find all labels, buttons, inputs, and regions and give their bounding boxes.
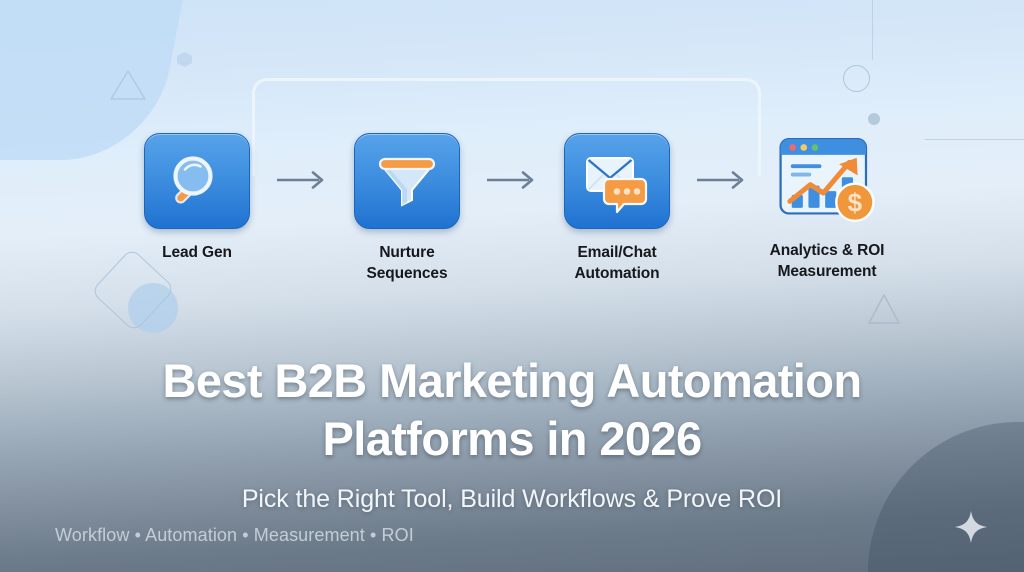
page-title: Best B2B Marketing Automation Platforms … <box>0 352 1024 468</box>
poster-canvas: Lead Gen Nurture Sequences <box>0 0 1024 572</box>
flow-step-label: Email/Chat Automation <box>574 243 659 284</box>
flow-step-lead-gen[interactable]: Lead Gen <box>123 133 271 264</box>
flow-step-label-line2: Measurement <box>770 262 885 283</box>
flow-step-label-line1: Lead Gen <box>162 243 232 264</box>
hexagon-small-icon <box>177 52 192 67</box>
flow-step-label-line1: Nurture <box>367 243 448 264</box>
workflow-flow-row: Lead Gen Nurture Sequences <box>0 133 1024 284</box>
page-subtitle: Pick the Right Tool, Build Workflows & P… <box>0 485 1024 514</box>
hero-text-block: Best B2B Marketing Automation Platforms … <box>0 352 1024 514</box>
flow-step-label: Lead Gen <box>162 243 232 264</box>
page-title-line2: Platforms in 2026 <box>322 412 701 465</box>
flow-step-label-line2: Automation <box>574 264 659 285</box>
arrow-right-icon <box>271 133 333 227</box>
lead-gen-card[interactable] <box>144 133 250 229</box>
tagline-keywords: Workflow • Automation • Measurement • RO… <box>55 525 414 546</box>
envelope-chat-icon <box>581 148 653 214</box>
email-chat-card[interactable] <box>564 133 670 229</box>
circle-outline-icon <box>843 65 870 92</box>
nurture-card[interactable] <box>354 133 460 229</box>
magnifying-glass-icon <box>162 146 232 216</box>
flow-step-email-chat[interactable]: Email/Chat Automation <box>543 133 691 284</box>
funnel-icon <box>374 148 440 214</box>
triangle-outline-icon <box>108 68 148 102</box>
triangle-outline-icon-2 <box>866 292 902 326</box>
hexagon-outline-icon <box>872 0 1024 140</box>
svg-text:$: $ <box>848 188 863 218</box>
analytics-dashboard-icon: $ <box>775 130 879 230</box>
flow-step-label-line2: Sequences <box>367 264 448 285</box>
flow-step-nurture[interactable]: Nurture Sequences <box>333 133 481 284</box>
flow-step-label: Nurture Sequences <box>367 243 448 284</box>
flow-step-label: Analytics & ROI Measurement <box>770 241 885 282</box>
flow-step-analytics[interactable]: $ Analytics & ROI Measurement <box>753 133 901 282</box>
dot-decoration <box>868 113 880 125</box>
page-title-line1: Best B2B Marketing Automation <box>163 354 862 407</box>
flow-step-label-line1: Analytics & ROI <box>770 241 885 262</box>
sparkle-icon <box>954 510 988 544</box>
analytics-card[interactable]: $ <box>775 133 879 227</box>
arrow-right-icon <box>691 133 753 227</box>
flow-step-label-line1: Email/Chat <box>574 243 659 264</box>
arrow-right-icon <box>481 133 543 227</box>
